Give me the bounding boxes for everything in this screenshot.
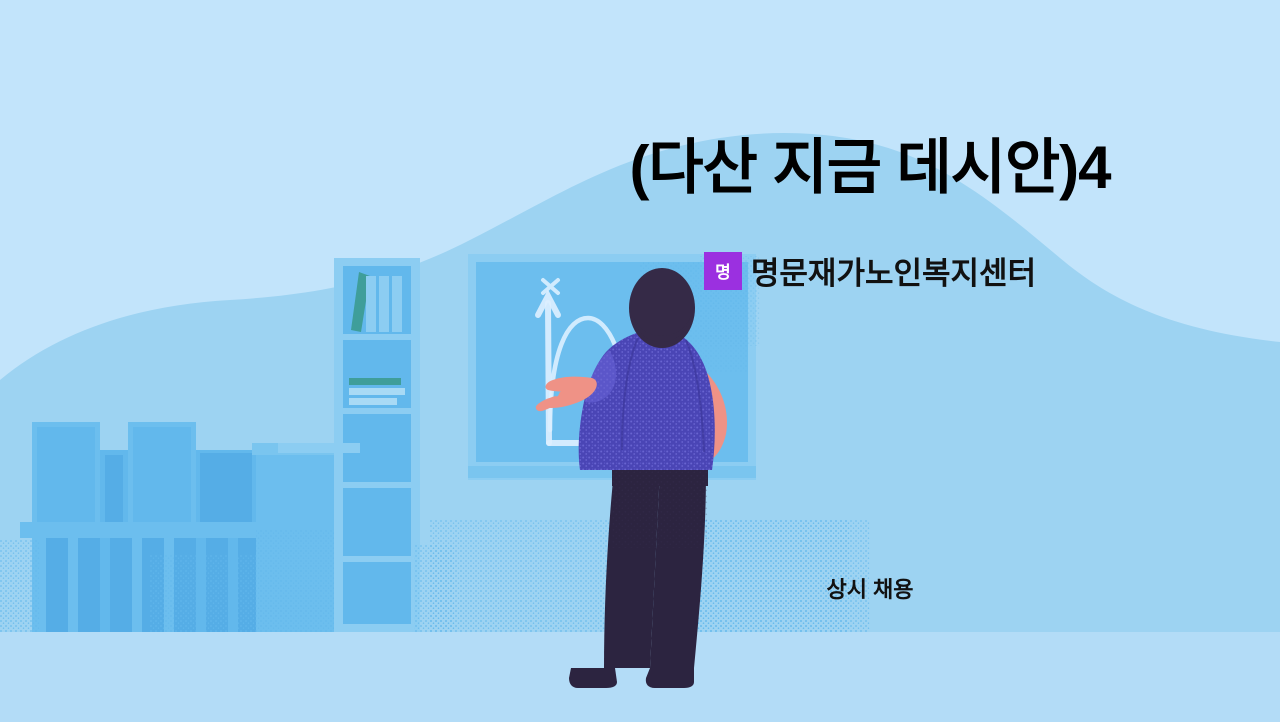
office-scene-illustration — [0, 0, 1280, 722]
building-2-inner — [105, 455, 123, 533]
company-row[interactable]: 명 명문재가노인복지센터 — [530, 248, 1210, 293]
building-4-inner — [200, 453, 252, 531]
trouser-speckle — [612, 458, 708, 548]
book-standing — [379, 276, 389, 332]
book-stacked-light — [349, 398, 397, 405]
book-stacked-light — [349, 388, 405, 395]
building-1-inner — [37, 427, 95, 535]
hire-type-label: 상시 채용 — [530, 572, 1210, 604]
building-3-inner — [133, 427, 191, 535]
company-name[interactable]: 명문재가노인복지센터 — [751, 248, 1036, 293]
bench-top — [20, 522, 256, 538]
pillar — [46, 538, 68, 632]
company-logo-badge: 명 — [704, 252, 742, 290]
pillar — [78, 538, 100, 632]
job-posting-banner: (다산 지금 데시안)4 명 명문재가노인복지센터 상시 채용 — [0, 0, 1280, 722]
page-title: (다산 지금 데시안)4 — [530, 136, 1210, 199]
book-stacked-teal — [349, 378, 401, 385]
building-group — [0, 422, 280, 632]
pillar — [110, 538, 132, 632]
book-standing — [392, 276, 402, 332]
book-standing — [366, 276, 376, 332]
shelf-compartment-2 — [343, 340, 411, 408]
side-counter — [278, 443, 360, 453]
shoe-left — [569, 668, 617, 688]
shoe-right — [646, 668, 694, 688]
shelf-compartment-4 — [343, 488, 411, 556]
shelf-compartment-5 — [343, 562, 411, 624]
